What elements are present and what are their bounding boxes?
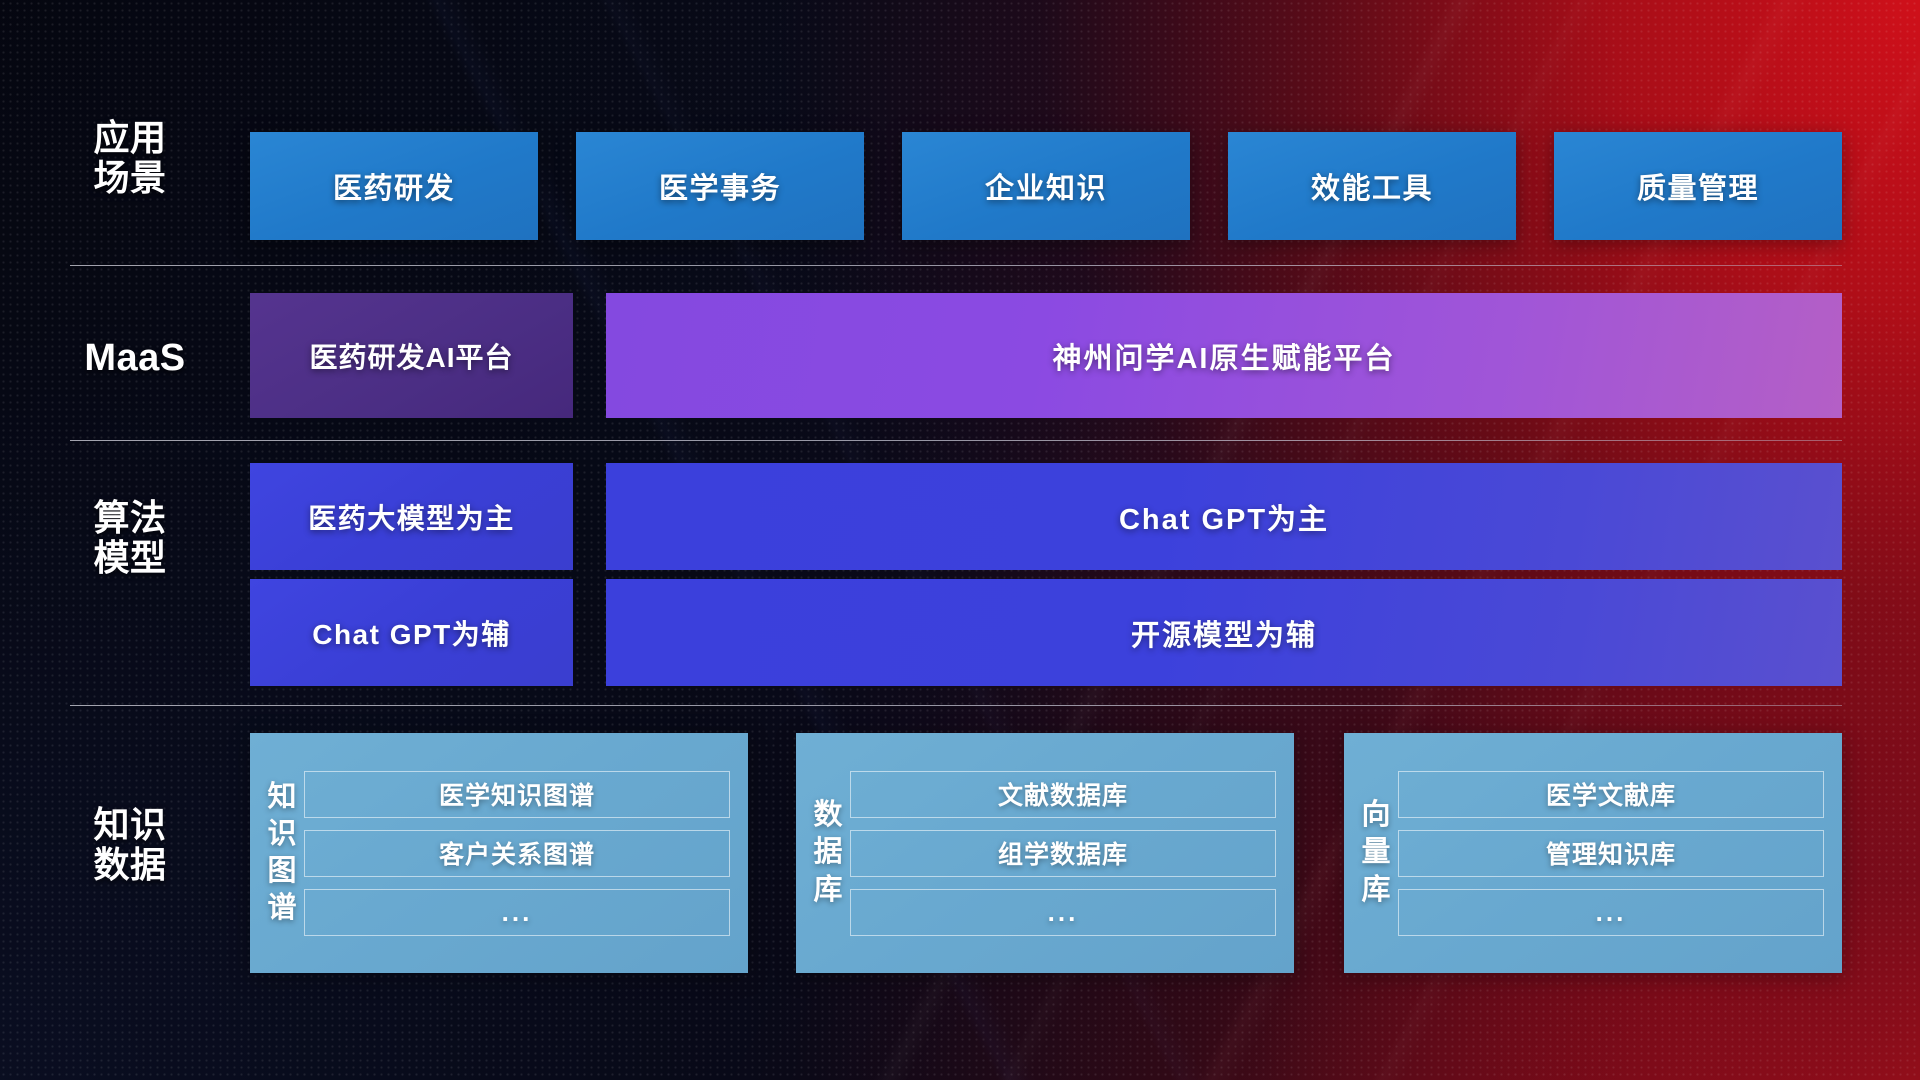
knowledge-group-0-item-2[interactable]: ...: [304, 889, 730, 936]
algo-left-box-1[interactable]: Chat GPT为辅: [250, 579, 573, 686]
app-box-3-label: 效能工具: [1311, 165, 1433, 207]
knowledge-group-0-vertical-label: 知 识 图 谱: [260, 779, 304, 927]
knowledge-group-0[interactable]: 知 识 图 谱 医学知识图谱 客户关系图谱 ...: [250, 733, 748, 973]
algo-left-box-0-label: 医药大模型为主: [308, 497, 515, 537]
app-box-2-label: 企业知识: [985, 165, 1107, 207]
app-box-0[interactable]: 医药研发: [250, 132, 538, 240]
row-label-knowledge: 知识 数据: [70, 805, 190, 886]
knowledge-group-1-item-2[interactable]: ...: [850, 889, 1276, 936]
algo-right-box-0[interactable]: Chat GPT为主: [606, 463, 1842, 570]
row-label-maas: MaaS: [70, 337, 200, 380]
divider-application-maas: [70, 265, 1842, 266]
maas-right-box-label: 神州问学AI原生赋能平台: [1052, 335, 1395, 377]
knowledge-group-2[interactable]: 向 量 库 医学文献库 管理知识库 ...: [1344, 733, 1842, 973]
row-label-application: 应用 场景: [70, 118, 190, 199]
knowledge-group-2-items: 医学文献库 管理知识库 ...: [1398, 771, 1824, 936]
knowledge-group-2-item-1[interactable]: 管理知识库: [1398, 830, 1824, 877]
diagram-canvas: 应用 场景 医药研发 医学事务 企业知识 效能工具 质量管理 MaaS 医药研发…: [0, 0, 1920, 1080]
algo-left-box-1-label: Chat GPT为辅: [312, 613, 511, 653]
algo-right-box-0-label: Chat GPT为主: [1119, 496, 1329, 538]
knowledge-group-0-items: 医学知识图谱 客户关系图谱 ...: [304, 771, 730, 936]
knowledge-group-1-vertical-label: 数 据 库: [806, 797, 850, 908]
knowledge-group-1[interactable]: 数 据 库 文献数据库 组学数据库 ...: [796, 733, 1294, 973]
algo-left-box-0[interactable]: 医药大模型为主: [250, 463, 573, 570]
maas-left-box-label: 医药研发AI平台: [309, 336, 513, 376]
app-box-0-label: 医药研发: [333, 165, 455, 207]
divider-algorithm-knowledge: [70, 705, 1842, 706]
knowledge-group-2-vertical-label: 向 量 库: [1354, 797, 1398, 908]
algo-right-box-1-label: 开源模型为辅: [1131, 612, 1317, 654]
maas-left-box[interactable]: 医药研发AI平台: [250, 293, 573, 418]
app-box-2[interactable]: 企业知识: [902, 132, 1190, 240]
row-label-algorithm: 算法 模型: [70, 498, 190, 579]
maas-right-box[interactable]: 神州问学AI原生赋能平台: [606, 293, 1842, 418]
knowledge-group-1-item-1[interactable]: 组学数据库: [850, 830, 1276, 877]
knowledge-group-0-item-1[interactable]: 客户关系图谱: [304, 830, 730, 877]
algo-right-box-1[interactable]: 开源模型为辅: [606, 579, 1842, 686]
app-box-3[interactable]: 效能工具: [1228, 132, 1516, 240]
app-box-4[interactable]: 质量管理: [1554, 132, 1842, 240]
knowledge-group-2-item-2[interactable]: ...: [1398, 889, 1824, 936]
knowledge-group-0-item-0[interactable]: 医学知识图谱: [304, 771, 730, 818]
divider-maas-algorithm: [70, 440, 1842, 441]
app-box-1[interactable]: 医学事务: [576, 132, 864, 240]
knowledge-group-2-item-0[interactable]: 医学文献库: [1398, 771, 1824, 818]
app-box-4-label: 质量管理: [1637, 165, 1759, 207]
app-box-1-label: 医学事务: [659, 165, 781, 207]
knowledge-group-1-item-0[interactable]: 文献数据库: [850, 771, 1276, 818]
knowledge-group-1-items: 文献数据库 组学数据库 ...: [850, 771, 1276, 936]
